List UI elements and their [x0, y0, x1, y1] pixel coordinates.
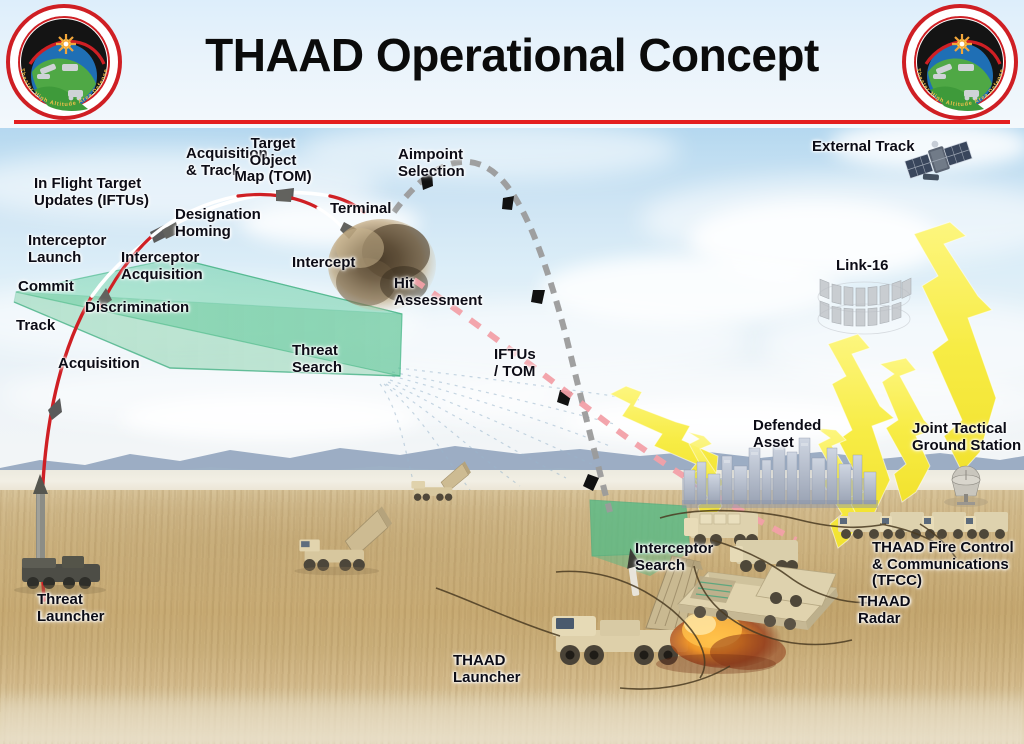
- label-intercept: Intercept: [292, 255, 355, 272]
- thaad-operational-concept-diagram: MISSILE DEFENSE AGENCY Theater High Alti…: [0, 0, 1024, 744]
- label-designation-homing: Designation Homing: [175, 207, 261, 240]
- header-band: MISSILE DEFENSE AGENCY Theater High Alti…: [0, 0, 1024, 128]
- label-in-flight-target-updates: In Flight Target Updates (IFTUs): [34, 176, 149, 209]
- label-threat-launcher: Threat Launcher: [37, 592, 105, 625]
- foreground-blur: [0, 690, 1024, 744]
- page-title: THAAD Operational Concept: [0, 32, 1024, 78]
- label-joint-tactical-ground-station: Joint Tactical Ground Station: [912, 421, 1021, 454]
- label-track: Track: [16, 318, 55, 335]
- header-divider: [14, 120, 1010, 124]
- label-terminal: Terminal: [330, 201, 391, 218]
- label-aimpoint-selection: Aimpoint Selection: [398, 147, 465, 180]
- label-defended-asset: Defended Asset: [753, 418, 821, 451]
- label-thaad-radar: THAAD Radar: [858, 594, 911, 627]
- label-hit-assessment: Hit Assessment: [394, 276, 482, 309]
- label-thaad-fire-control: THAAD Fire Control & Communications (TFC…: [872, 540, 1014, 590]
- label-interceptor-search: Interceptor Search: [635, 541, 713, 574]
- label-interceptor-acquisition: Interceptor Acquisition: [121, 250, 203, 283]
- label-link-16: Link-16: [836, 258, 889, 275]
- cloud: [300, 120, 680, 180]
- label-interceptor-launch: Interceptor Launch: [28, 233, 106, 266]
- label-threat-search: Threat Search: [292, 343, 342, 376]
- label-external-track: External Track: [812, 139, 915, 156]
- label-thaad-launcher: THAAD Launcher: [453, 653, 521, 686]
- label-discrimination: Discrimination: [85, 300, 189, 317]
- label-commit: Commit: [18, 279, 74, 296]
- label-target-object-map: Target Object Map (TOM): [234, 136, 311, 186]
- label-acquisition: Acquisition: [58, 356, 140, 373]
- mda-seal-right-icon: MISSILE DEFENSE AGENCY Theater High Alti…: [900, 2, 1020, 122]
- label-iftus-tom: IFTUs / TOM: [494, 347, 536, 380]
